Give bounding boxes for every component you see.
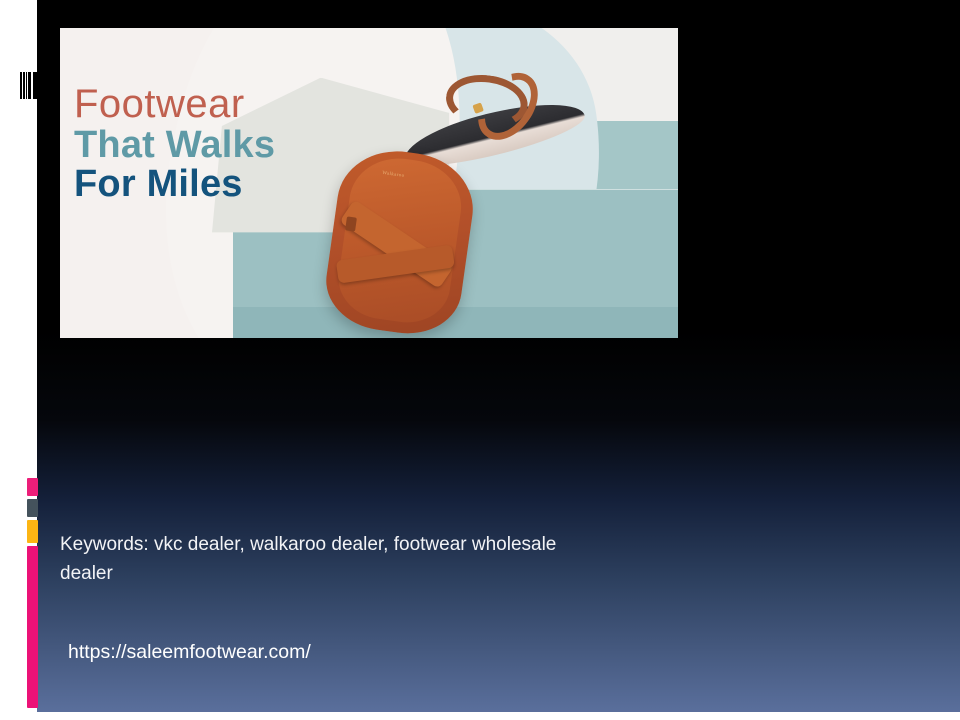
accent-chip-slate [27,499,38,517]
sandal-lower: Walkaroo [320,143,480,338]
headline-line-1: Footwear [74,84,275,126]
sandal-lower-buckle [345,216,357,231]
keywords-text: Keywords: vkc dealer, walkaroo dealer, f… [60,531,580,588]
accent-bar-magenta [27,546,38,708]
accent-chip-amber [27,520,38,543]
vertical-bars-motif [20,72,37,99]
hero-image: Walkaroo Footwear That Walks For Miles [60,28,678,338]
presentation-slide: Walkaroo Footwear That Walks For Miles K… [0,0,960,720]
hero-headline: Footwear That Walks For Miles [74,84,275,205]
headline-line-2: That Walks [74,126,275,166]
website-url[interactable]: https://saleemfootwear.com/ [68,641,311,664]
accent-chip-pink [27,478,38,496]
headline-line-3: For Miles [74,165,275,205]
